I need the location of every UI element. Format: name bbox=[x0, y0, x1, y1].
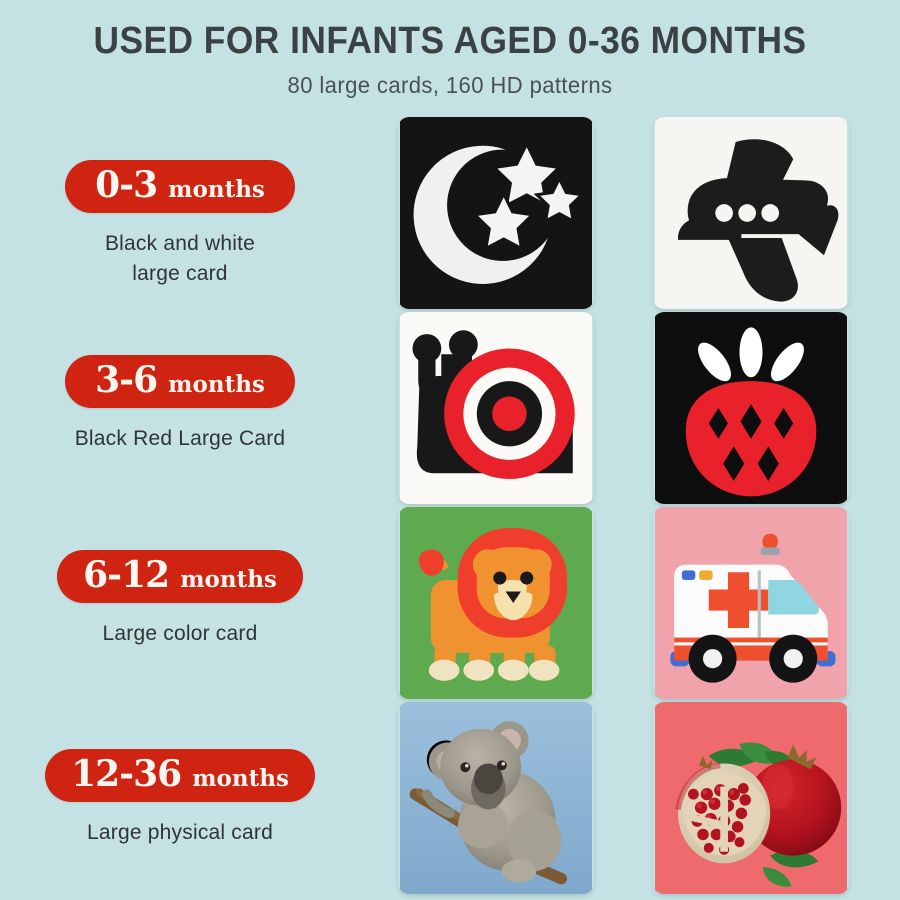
age-group-list: 0-3 months Black and white large card 3-… bbox=[0, 112, 360, 900]
snail-target-icon bbox=[398, 312, 594, 504]
age-range-label: 3-6 bbox=[95, 362, 157, 398]
age-group-3-6: 3-6 months Black Red Large Card bbox=[0, 355, 360, 454]
age-badge-0-3[interactable]: 0-3 months bbox=[65, 160, 295, 213]
age-unit-label: months bbox=[168, 373, 265, 396]
age-range-label: 6-12 bbox=[83, 557, 169, 593]
age-badge-6-12[interactable]: 6-12 months bbox=[57, 550, 303, 603]
age-description-line: large card bbox=[0, 259, 360, 289]
moon-stars-icon bbox=[398, 117, 594, 309]
age-group-12-36: 12-36 months Large physical card bbox=[0, 749, 360, 848]
age-badge-3-6[interactable]: 3-6 months bbox=[65, 355, 295, 408]
age-range-label: 0-3 bbox=[95, 167, 157, 203]
age-description-line: Large physical card bbox=[0, 818, 360, 848]
age-group-6-12: 6-12 months Large color card bbox=[0, 550, 360, 649]
age-description-line: Black and white bbox=[0, 229, 360, 259]
age-description-3-6: Black Red Large Card bbox=[0, 424, 360, 454]
card-pomegranate[interactable] bbox=[653, 702, 849, 894]
card-koala[interactable] bbox=[398, 702, 594, 894]
page-subtitle: 80 large cards, 160 HD patterns bbox=[18, 72, 882, 99]
koala-photo bbox=[398, 702, 594, 894]
age-description-line: Large color card bbox=[0, 619, 360, 649]
card-moon-stars[interactable] bbox=[398, 117, 594, 309]
age-unit-label: months bbox=[180, 568, 277, 591]
lion-icon bbox=[398, 507, 594, 699]
page-title: USED FOR INFANTS AGED 0-36 MONTHS bbox=[32, 22, 869, 60]
header: USED FOR INFANTS AGED 0-36 MONTHS 80 lar… bbox=[0, 0, 900, 99]
age-unit-label: months bbox=[168, 178, 265, 201]
age-description-line: Black Red Large Card bbox=[0, 424, 360, 454]
card-airplane[interactable] bbox=[653, 117, 849, 309]
age-badge-12-36[interactable]: 12-36 months bbox=[45, 749, 315, 802]
strawberry-icon bbox=[653, 312, 849, 504]
pomegranate-photo bbox=[653, 702, 849, 894]
age-range-label: 12-36 bbox=[71, 756, 181, 792]
age-description-12-36: Large physical card bbox=[0, 818, 360, 848]
card-grid bbox=[360, 112, 900, 900]
age-description-6-12: Large color card bbox=[0, 619, 360, 649]
age-unit-label: months bbox=[192, 767, 289, 790]
card-strawberry[interactable] bbox=[653, 312, 849, 504]
card-snail-target[interactable] bbox=[398, 312, 594, 504]
main-content: 0-3 months Black and white large card 3-… bbox=[0, 112, 900, 900]
age-description-0-3: Black and white large card bbox=[0, 229, 360, 289]
ambulance-icon bbox=[653, 507, 849, 699]
card-ambulance[interactable] bbox=[653, 507, 849, 699]
card-lion[interactable] bbox=[398, 507, 594, 699]
airplane-icon bbox=[653, 117, 849, 309]
age-group-0-3: 0-3 months Black and white large card bbox=[0, 160, 360, 289]
